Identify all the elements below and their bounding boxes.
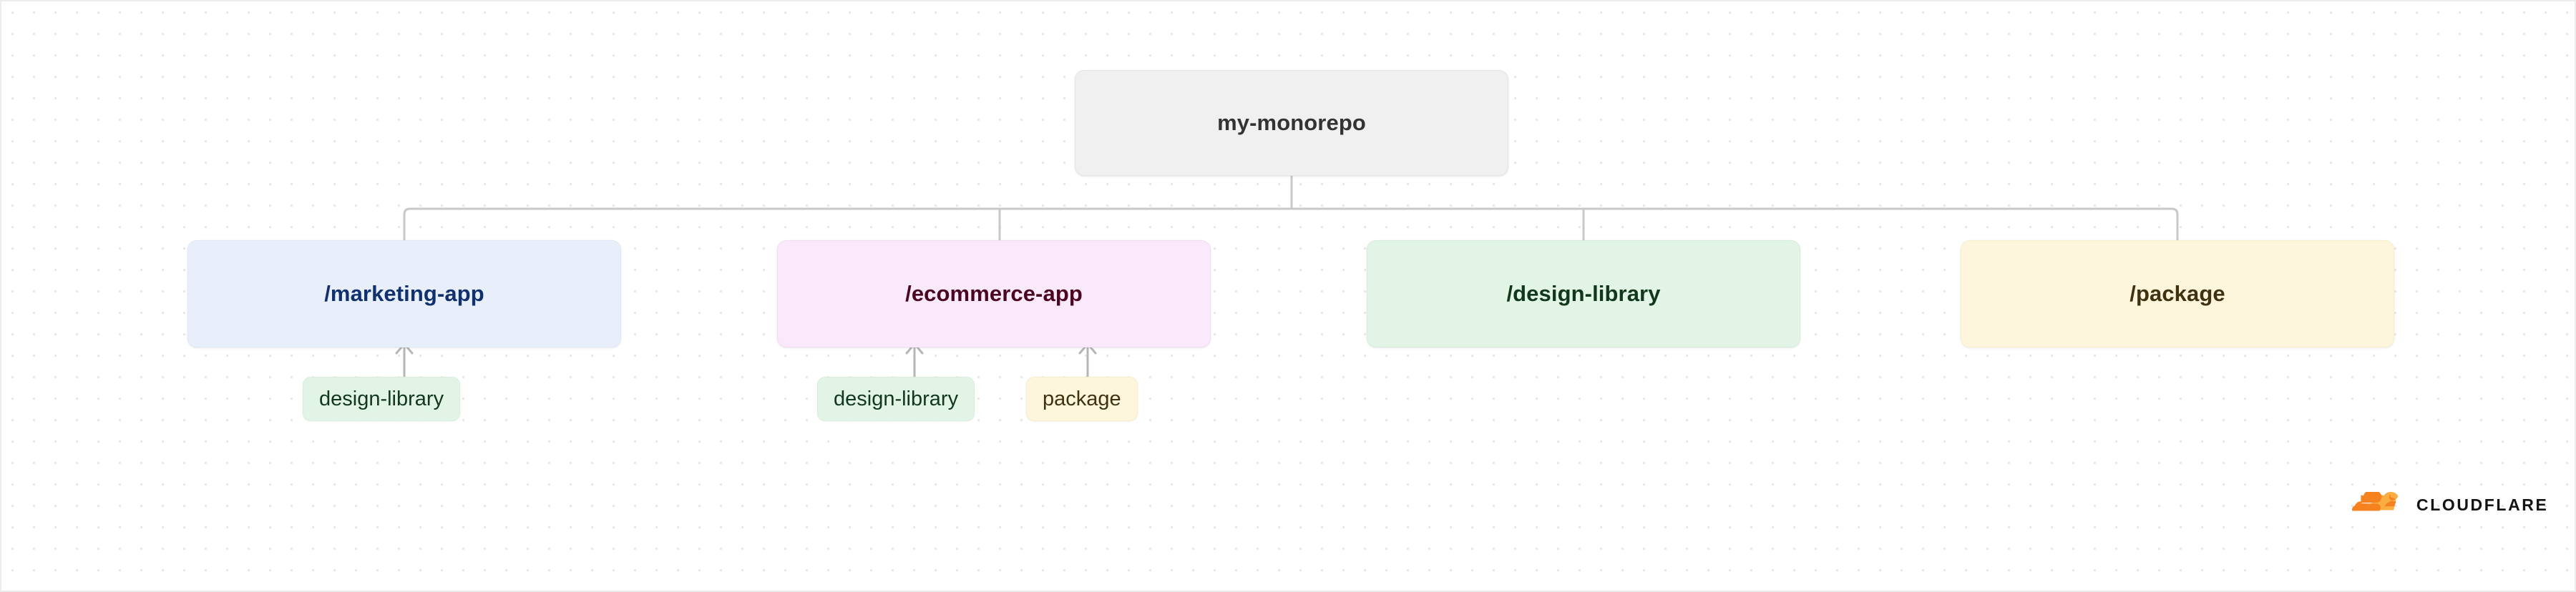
dependency-chip-label: design-library [834,388,958,411]
connector-bus-package [1292,209,2177,240]
cloudflare-wordmark: CLOUDFLARE [2416,497,2548,513]
dependency-chip-design-library-marketing[interactable]: design-library [303,377,460,421]
node-label: /marketing-app [324,281,484,307]
dep-arrow-marketing-design-library [396,344,412,377]
diagram-canvas: my-monorepo /marketing-app /ecommerce-ap… [0,0,2576,592]
node-package[interactable]: /package [1961,240,2394,347]
dependency-chip-label: package [1043,388,1121,411]
dependency-chip-label: design-library [319,388,444,411]
node-label: /design-library [1506,281,1660,307]
connector-bus-marketing [404,209,1292,240]
cloudflare-cloud-icon [2352,492,2409,518]
node-ecommerce-app[interactable]: /ecommerce-app [777,240,1211,347]
node-marketing-app[interactable]: /marketing-app [187,240,621,347]
dep-arrow-ecommerce-package [1080,344,1096,377]
dep-arrow-ecommerce-design-library [907,344,922,377]
dependency-chip-design-library-ecommerce[interactable]: design-library [817,377,975,421]
connector-bus-design [1292,209,1584,240]
dependency-chip-package-ecommerce[interactable]: package [1026,377,1138,421]
connector-bus-ecommerce [1000,209,1292,240]
cloudflare-logo: CLOUDFLARE [2352,492,2548,518]
node-design-library[interactable]: /design-library [1367,240,1800,347]
node-label: my-monorepo [1217,110,1366,136]
node-label: /package [2129,281,2225,307]
node-my-monorepo[interactable]: my-monorepo [1075,70,1508,176]
node-label: /ecommerce-app [905,281,1083,307]
